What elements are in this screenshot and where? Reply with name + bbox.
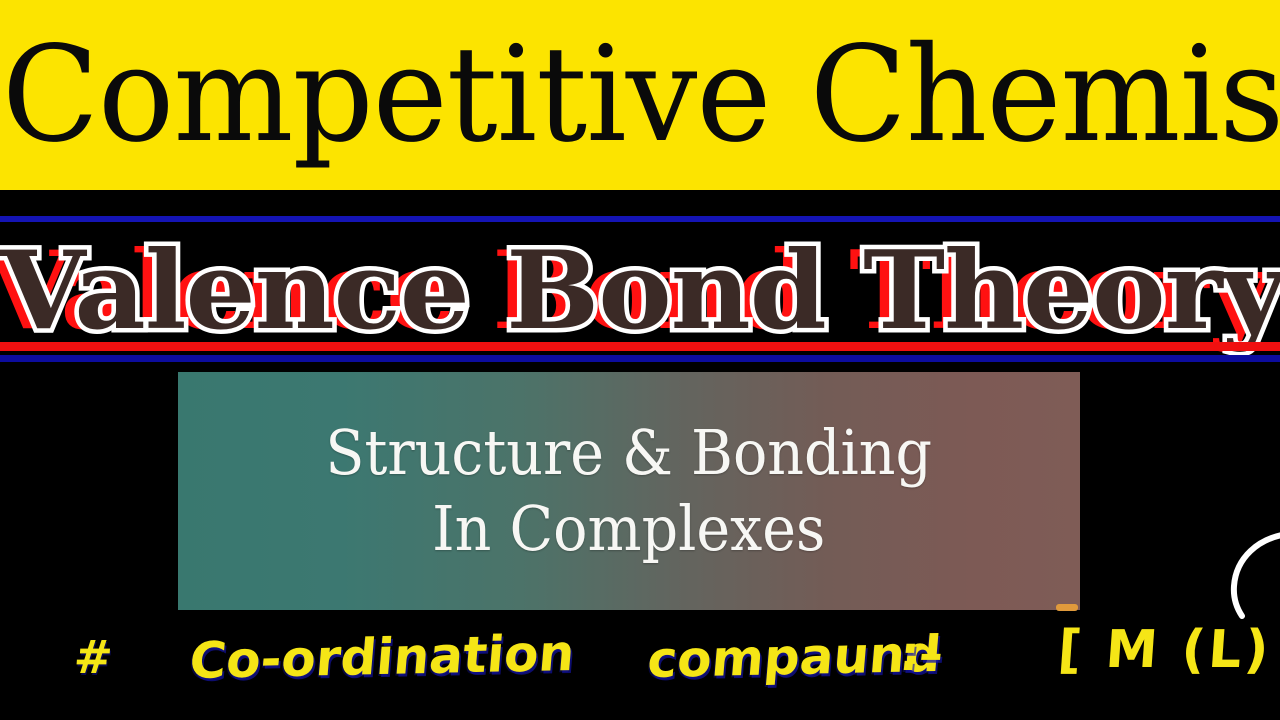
rule-blue-bottom xyxy=(0,355,1280,362)
channel-banner: Competitive Chemistry xyxy=(0,0,1280,190)
pen-stroke-arc xyxy=(1218,528,1280,620)
handwriting-layer: # Co-ordination compaund :– [ M (L) xyxy=(0,612,1280,720)
rule-red-bottom xyxy=(0,342,1280,351)
subtitle-panel: Structure & Bonding In Complexes xyxy=(178,372,1080,610)
main-title-text: Valence Bond Theory xyxy=(0,237,1280,345)
handwritten-word-coordination: Co-ordination xyxy=(187,624,577,690)
handwritten-formula: [ M (L) xyxy=(1056,620,1274,680)
subtitle-line-2: In Complexes xyxy=(432,491,825,567)
subtitle-line-1: Structure & Bonding xyxy=(326,415,933,491)
orange-ink-mark xyxy=(1056,604,1078,611)
channel-title: Competitive Chemistry xyxy=(2,29,1280,161)
lecture-slide: Competitive Chemistry Valence Bond Theor… xyxy=(0,0,1280,720)
banner-divider-gap xyxy=(0,190,1280,218)
handwritten-punctuation: :– xyxy=(897,626,946,682)
hash-marker: # xyxy=(72,630,114,684)
